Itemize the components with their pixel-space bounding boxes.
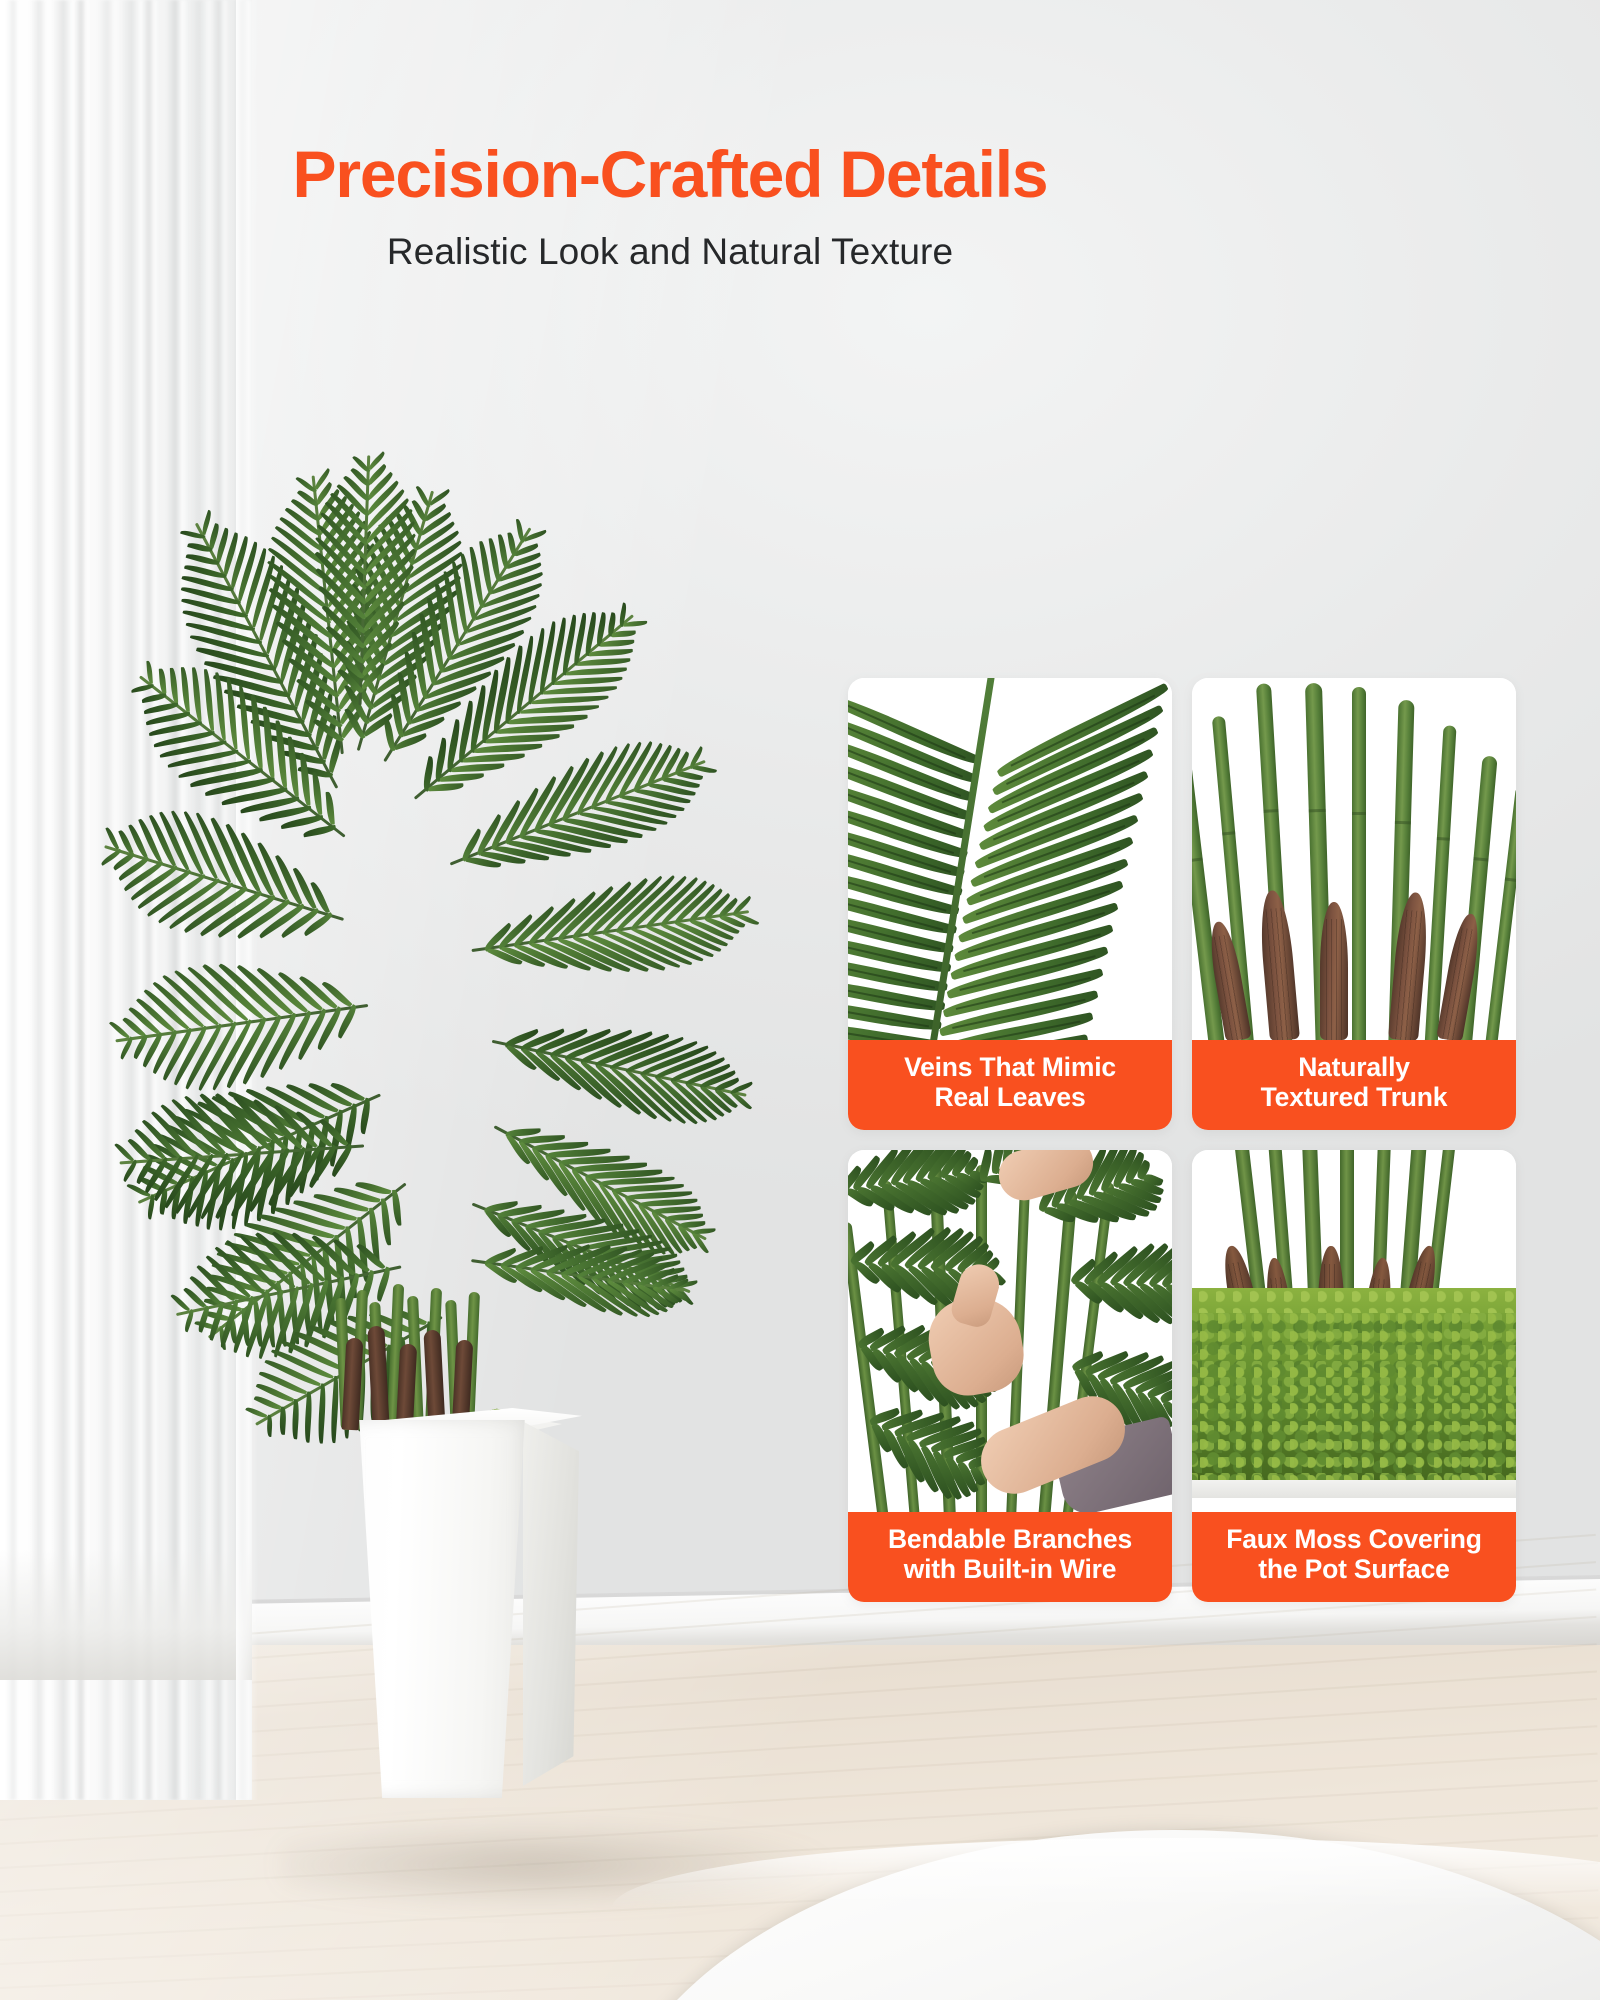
frond-leaflet xyxy=(275,720,286,787)
feature-tile-veins[interactable]: Veins That Mimic Real Leaves xyxy=(848,678,1172,1130)
white-planter xyxy=(340,1404,570,1804)
frond-leaflet xyxy=(141,693,166,703)
frond-leaflet xyxy=(239,685,251,759)
frond-leaflet xyxy=(392,1189,402,1225)
frond-leaflet xyxy=(322,979,353,1009)
frond-leaflet xyxy=(181,667,190,712)
frond-leaflet xyxy=(498,534,508,569)
frond-leaflet xyxy=(474,744,543,753)
frond-leaflet xyxy=(612,630,637,636)
trunk-stalk xyxy=(1352,687,1366,1041)
photo-textured-trunk xyxy=(1192,678,1516,1040)
frond-leaflet xyxy=(304,1391,313,1442)
planter-front-face xyxy=(354,1420,530,1798)
caption-trunk-line2: Textured Trunk xyxy=(1200,1083,1508,1113)
frond-leaflet xyxy=(227,678,238,750)
artificial-palm-plant xyxy=(60,560,820,1400)
frond-leaflet xyxy=(463,754,525,763)
frond-leaflet xyxy=(566,667,627,675)
frond-leaflet xyxy=(577,658,630,666)
feature-grid: Veins That Mimic Real Leaves Naturally T… xyxy=(848,678,1536,1630)
pot-rim-line xyxy=(1192,1480,1516,1498)
trunk-bark-piece xyxy=(1320,902,1348,1040)
feature-tile-moss[interactable]: Faux Moss Covering the Pot Surface xyxy=(1192,1150,1516,1602)
caption-bendable: Bendable Branches with Built-in Wire xyxy=(848,1512,1172,1602)
frond-stem xyxy=(104,845,344,921)
frond-leaflet xyxy=(170,668,178,703)
frond-leaflet xyxy=(600,640,634,647)
frond-leaflet xyxy=(440,773,485,782)
frond-leaflet xyxy=(134,1127,165,1160)
caption-trunk-line1: Naturally xyxy=(1200,1053,1508,1083)
frond-leaflet xyxy=(302,824,336,837)
frond-leaflet xyxy=(300,753,311,806)
frond-leaflet xyxy=(428,783,463,792)
caption-veins-line2: Real Leaves xyxy=(856,1083,1164,1113)
frond-leaflet xyxy=(451,763,505,772)
frond-leaflet xyxy=(279,1407,287,1435)
photo-faux-moss xyxy=(1192,1150,1516,1512)
caption-moss-line1: Faux Moss Covering xyxy=(1200,1525,1508,1555)
frond-leaflet xyxy=(665,1214,704,1221)
frond-leaflet xyxy=(317,1384,327,1444)
caption-bendable-line2: with Built-in Wire xyxy=(856,1555,1164,1585)
frond-leaflet xyxy=(215,672,226,740)
frond-leaflet xyxy=(543,686,617,695)
page-title: Precision-Crafted Details xyxy=(0,140,1340,209)
caption-moss-line2: the Pot Surface xyxy=(1200,1555,1508,1585)
caption-veins-line1: Veins That Mimic xyxy=(856,1053,1164,1083)
branch-frond xyxy=(1060,1235,1172,1329)
frond-leaflet xyxy=(486,734,560,743)
frond-leaflet xyxy=(251,695,263,769)
caption-moss: Faux Moss Covering the Pot Surface xyxy=(1192,1512,1516,1602)
frond-leaflet xyxy=(313,772,323,816)
frond-leaflet xyxy=(143,702,179,714)
palm-frond xyxy=(308,454,421,707)
frond-leaflet xyxy=(554,677,622,685)
moss-mat xyxy=(1192,1313,1516,1480)
planter-side-face xyxy=(523,1414,579,1786)
trunk-bark-piece xyxy=(1257,889,1300,1040)
photo-hand-bending-branch xyxy=(848,1150,1172,1512)
frond-leaflet xyxy=(266,1414,273,1436)
heading-block: Precision-Crafted Details Realistic Look… xyxy=(0,140,1340,273)
frond-leaflet xyxy=(509,715,588,724)
frond-leaflet xyxy=(291,1399,300,1439)
feature-tile-bendable[interactable]: Bendable Branches with Built-in Wire xyxy=(848,1150,1172,1602)
frond-leaflet xyxy=(531,696,608,705)
feature-tile-trunk[interactable]: Naturally Textured Trunk xyxy=(1192,678,1516,1130)
frond-leaflet xyxy=(204,669,214,731)
frond-leaflet xyxy=(131,684,154,693)
curtain-hem xyxy=(0,1550,252,1680)
frond-leaflet xyxy=(263,706,275,778)
frond-leaflet xyxy=(497,724,575,733)
frond-leaflet xyxy=(192,667,202,721)
frond-leaflet xyxy=(520,705,599,714)
frond-leaflet xyxy=(623,621,648,627)
palm-frond xyxy=(116,1088,368,1221)
caption-trunk: Naturally Textured Trunk xyxy=(1192,1040,1516,1130)
frond-leaflet xyxy=(589,649,633,656)
caption-veins: Veins That Mimic Real Leaves xyxy=(848,1040,1172,1130)
page-subtitle: Realistic Look and Natural Texture xyxy=(0,231,1340,273)
photo-palm-frond-veins xyxy=(848,678,1172,1040)
frond-leaflet xyxy=(638,1199,697,1207)
frond-leaflet xyxy=(652,1206,701,1214)
caption-bendable-line1: Bendable Branches xyxy=(856,1525,1164,1555)
frond-leaflet xyxy=(288,736,299,797)
